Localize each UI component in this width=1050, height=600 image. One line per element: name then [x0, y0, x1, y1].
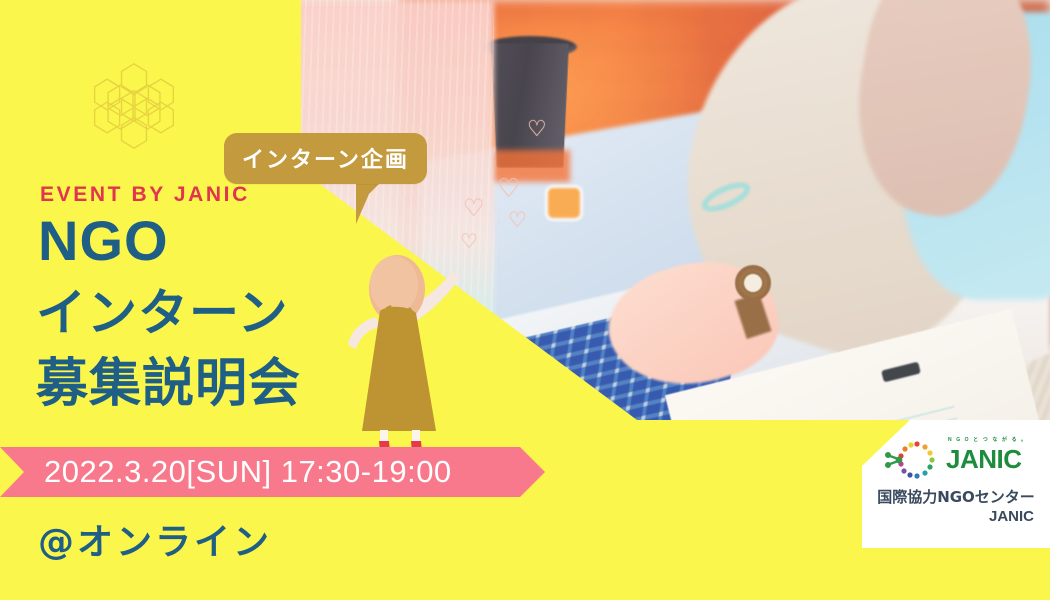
- page-title-line1: NGO: [38, 213, 169, 269]
- event-poster: ♡ ♡ ♡ ♡ ♡ EVENT BY JANIC NGO インターン 募集説明会…: [0, 0, 1050, 600]
- venue-text: @オンライン: [38, 513, 272, 565]
- logo-wordmark: JANIC: [946, 444, 1022, 475]
- page-title-line3: 募集説明会: [36, 358, 301, 410]
- date-ribbon: 2022.3.20[SUN] 17:30-19:00: [0, 447, 545, 497]
- logo-panel: N G O と つ な が る 。 JANIC 国際協力NGOセンター JANI…: [862, 420, 1050, 548]
- hexagon-pattern-icon: [86, 58, 182, 154]
- woman-illustration-icon: [336, 245, 466, 455]
- eyebrow-label: EVENT BY JANIC: [40, 183, 250, 207]
- date-time-text: 2022.3.20[SUN] 17:30-19:00: [44, 454, 452, 490]
- logo-abbreviation: JANIC: [862, 508, 1050, 525]
- status-badge: インターン企画: [224, 133, 427, 184]
- badge-tail: [356, 181, 382, 224]
- logo-microtext: N G O と つ な が る 。: [948, 436, 1028, 443]
- page-title-line2: インターン: [36, 288, 289, 338]
- logo-organization-name: 国際協力NGOセンター: [862, 486, 1050, 507]
- janic-logo-icon: [880, 436, 942, 484]
